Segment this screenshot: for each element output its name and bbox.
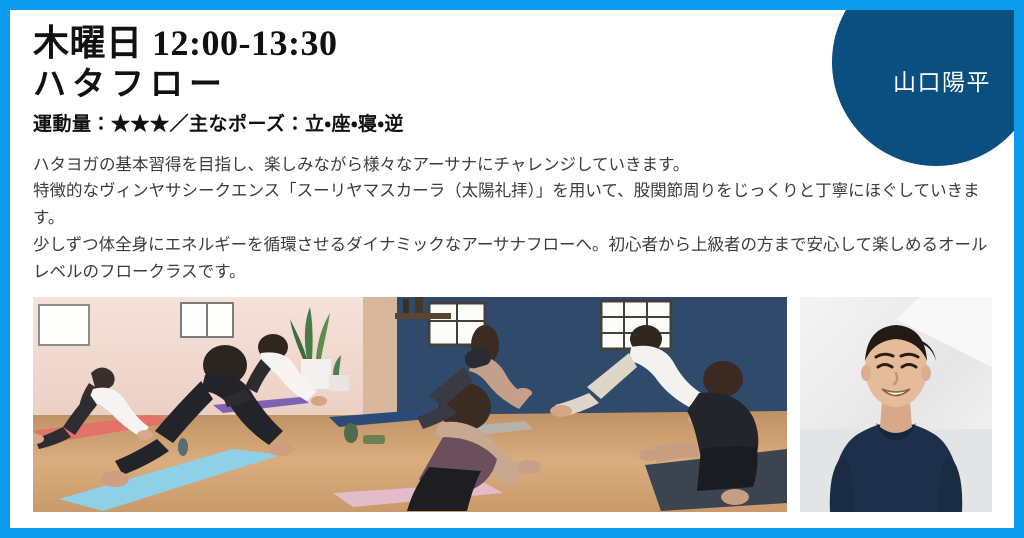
- class-schedule-card: 山口陽平 木曜日 12:00-13:30 ハタフロー 運動量：★★★／主なポーズ…: [0, 0, 1024, 538]
- description-line-2: 特徴的なヴィンヤサシークエンス「スーリヤマスカーラ（太陽礼拝）」を用いて、股関節…: [33, 178, 995, 231]
- class-photo-illustration: [33, 297, 787, 512]
- description-line-1: ハタヨガの基本習得を目指し、楽しみながら様々なアーサナにチャレンジしていきます。: [33, 152, 995, 179]
- instructor-portrait-illustration: [800, 297, 992, 512]
- photo-row: [33, 297, 1011, 512]
- description-line-3: 少しずつ体全身にエネルギーを循環させるダイナミックなアーサナフローへ。初心者から…: [33, 232, 995, 285]
- class-description: ハタヨガの基本習得を目指し、楽しみながら様々なアーサナにチャレンジしていきます。…: [33, 152, 995, 286]
- class-photo: [33, 297, 787, 512]
- instructor-name-label: 山口陽平: [893, 63, 991, 97]
- instructor-photo: [800, 297, 992, 512]
